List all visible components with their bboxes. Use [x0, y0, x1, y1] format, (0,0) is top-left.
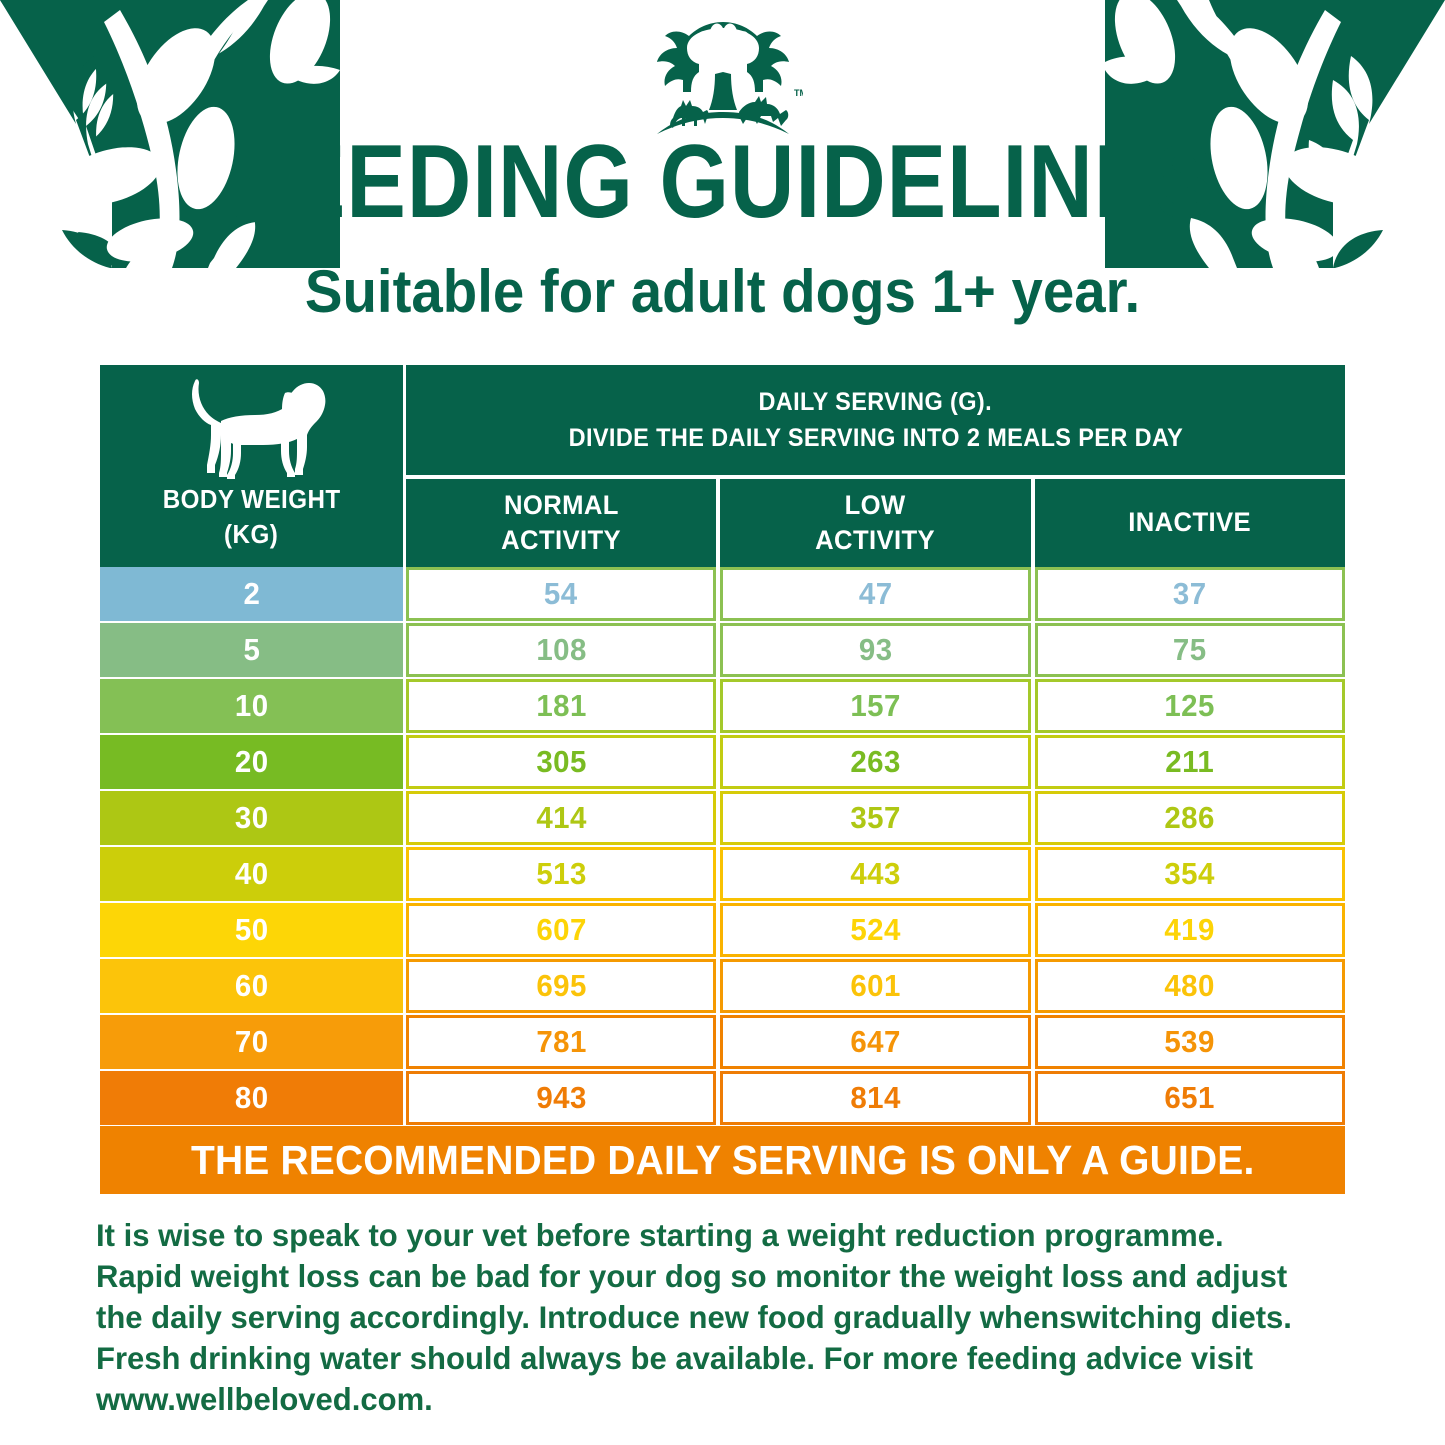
serving-cell-normal-activity: 54 — [406, 567, 716, 621]
serving-cell-low-activity: 814 — [720, 1071, 1030, 1125]
serving-value: 157 — [850, 688, 901, 724]
inactive-line1: INACTIVE — [1128, 505, 1251, 540]
serving-header-block: DAILY SERVING (G). DIVIDE THE DAILY SERV… — [406, 365, 1345, 567]
serving-value: 181 — [536, 688, 587, 724]
serving-cell-low-activity: 524 — [720, 903, 1030, 957]
serving-value: 695 — [536, 968, 587, 1004]
table-row: 70781647539 — [100, 1015, 1345, 1069]
serving-cell-normal-activity: 607 — [406, 903, 716, 957]
serving-cell-group: 181157125 — [406, 679, 1345, 733]
serving-cell-normal-activity: 414 — [406, 791, 716, 845]
serving-value: 651 — [1165, 1080, 1216, 1116]
table-row: 50607524419 — [100, 903, 1345, 957]
table-row: 60695601480 — [100, 959, 1345, 1013]
serving-value: 419 — [1165, 912, 1216, 948]
serving-cell-inactive: 75 — [1035, 623, 1345, 677]
body-weight-cell: 30 — [100, 791, 403, 845]
serving-cell-group: 305263211 — [406, 735, 1345, 789]
serving-cell-normal-activity: 181 — [406, 679, 716, 733]
serving-cell-group: 781647539 — [406, 1015, 1345, 1069]
body-weight-header-line1: BODY WEIGHT — [163, 483, 341, 516]
table-header: BODY WEIGHT (KG) DAILY SERVING (G). DIVI… — [100, 365, 1345, 567]
serving-cell-inactive: 419 — [1035, 903, 1345, 957]
footnote-line: Fresh drinking water should always be av… — [96, 1338, 1339, 1379]
table-row: 40513443354 — [100, 847, 1345, 901]
serving-cell-low-activity: 263 — [720, 735, 1030, 789]
serving-value: 211 — [1165, 744, 1214, 780]
serving-value: 781 — [536, 1024, 587, 1060]
guide-banner-text: THE RECOMMENDED DAILY SERVING IS ONLY A … — [191, 1137, 1254, 1184]
body-weight-value: 50 — [235, 912, 269, 948]
serving-value: 480 — [1165, 968, 1216, 1004]
low-activity-line1: LOW — [845, 488, 906, 523]
serving-cell-group: 414357286 — [406, 791, 1345, 845]
serving-value: 943 — [536, 1080, 587, 1116]
body-weight-cell: 60 — [100, 959, 403, 1013]
table-row: 2544737 — [100, 567, 1345, 621]
serving-value: 601 — [850, 968, 901, 1004]
page-title: FEEDING GUIDELINES — [101, 130, 1344, 234]
low-activity-line2: ACTIVITY — [816, 523, 936, 558]
serving-value: 37 — [1173, 576, 1207, 612]
serving-value: 414 — [536, 800, 587, 836]
table-row: 80943814651 — [100, 1071, 1345, 1125]
table-row: 10181157125 — [100, 679, 1345, 733]
column-header-low-activity: LOW ACTIVITY — [720, 479, 1030, 567]
serving-cell-group: 607524419 — [406, 903, 1345, 957]
serving-cell-inactive: 211 — [1035, 735, 1345, 789]
serving-value: 263 — [850, 744, 901, 780]
body-weight-header-cell: BODY WEIGHT (KG) — [100, 365, 403, 567]
serving-value: 108 — [536, 632, 587, 668]
serving-value: 357 — [850, 800, 901, 836]
body-weight-cell: 10 — [100, 679, 403, 733]
serving-cell-group: 1089375 — [406, 623, 1345, 677]
serving-value: 513 — [536, 856, 587, 892]
serving-cell-normal-activity: 108 — [406, 623, 716, 677]
daily-serving-header: DAILY SERVING (G). DIVIDE THE DAILY SERV… — [406, 365, 1345, 475]
daily-serving-header-line2: DIVIDE THE DAILY SERVING INTO 2 MEALS PE… — [568, 420, 1183, 456]
serving-value: 75 — [1173, 632, 1207, 668]
serving-cell-inactive: 539 — [1035, 1015, 1345, 1069]
page-subtitle: Suitable for adult dogs 1+ year. — [43, 262, 1401, 322]
body-weight-value: 70 — [235, 1024, 269, 1060]
footnote-text: It is wise to speak to your vet before s… — [96, 1215, 1358, 1420]
table-row: 30414357286 — [100, 791, 1345, 845]
serving-value: 125 — [1165, 688, 1216, 724]
serving-cell-inactive: 37 — [1035, 567, 1345, 621]
serving-cell-group: 695601480 — [406, 959, 1345, 1013]
body-weight-value: 80 — [235, 1080, 269, 1116]
serving-cell-inactive: 286 — [1035, 791, 1345, 845]
footnote-line: the daily serving accordingly. Introduce… — [96, 1297, 1339, 1338]
serving-value: 286 — [1165, 800, 1216, 836]
feeding-guidelines-page: TM FEEDING GUIDELINES Suitable for adult… — [0, 0, 1445, 1445]
serving-cell-inactive: 480 — [1035, 959, 1345, 1013]
serving-cell-normal-activity: 513 — [406, 847, 716, 901]
serving-cell-normal-activity: 781 — [406, 1015, 716, 1069]
serving-value: 305 — [536, 744, 587, 780]
footnote-line: www.wellbeloved.com. — [96, 1379, 1339, 1420]
body-weight-cell: 70 — [100, 1015, 403, 1069]
serving-value: 539 — [1165, 1024, 1216, 1060]
body-weight-value: 2 — [243, 576, 260, 612]
serving-cell-normal-activity: 943 — [406, 1071, 716, 1125]
serving-value: 607 — [536, 912, 587, 948]
serving-value: 354 — [1165, 856, 1216, 892]
serving-value: 814 — [850, 1080, 901, 1116]
serving-cell-inactive: 125 — [1035, 679, 1345, 733]
serving-cell-low-activity: 647 — [720, 1015, 1030, 1069]
serving-value: 647 — [850, 1024, 901, 1060]
body-weight-cell: 40 — [100, 847, 403, 901]
normal-activity-line2: ACTIVITY — [501, 523, 621, 558]
activity-header-row: NORMAL ACTIVITY LOW ACTIVITY INACTIVE — [406, 479, 1345, 567]
guide-banner: THE RECOMMENDED DAILY SERVING IS ONLY A … — [100, 1126, 1345, 1194]
trademark-label: TM — [794, 88, 803, 98]
serving-cell-low-activity: 443 — [720, 847, 1030, 901]
normal-activity-line1: NORMAL — [504, 488, 619, 523]
body-weight-cell: 20 — [100, 735, 403, 789]
serving-value: 54 — [544, 576, 578, 612]
table-body: 2544737510893751018115712520305263211304… — [100, 567, 1345, 1125]
serving-value: 443 — [850, 856, 901, 892]
daily-serving-header-line1: DAILY SERVING (G). — [759, 384, 993, 420]
serving-cell-low-activity: 157 — [720, 679, 1030, 733]
serving-value: 93 — [859, 632, 893, 668]
body-weight-value: 5 — [243, 632, 260, 668]
body-weight-cell: 2 — [100, 567, 403, 621]
body-weight-value: 60 — [235, 968, 269, 1004]
body-weight-value: 30 — [235, 800, 269, 836]
table-row: 51089375 — [100, 623, 1345, 677]
body-weight-cell: 50 — [100, 903, 403, 957]
serving-value: 47 — [859, 576, 893, 612]
feeding-table: BODY WEIGHT (KG) DAILY SERVING (G). DIVI… — [100, 365, 1345, 1125]
body-weight-value: 10 — [235, 688, 269, 724]
footnote-line: It is wise to speak to your vet before s… — [96, 1215, 1339, 1256]
serving-cell-low-activity: 93 — [720, 623, 1030, 677]
body-weight-cell: 5 — [100, 623, 403, 677]
footnote-line: Rapid weight loss can be bad for your do… — [96, 1256, 1339, 1297]
dog-silhouette-icon — [177, 373, 327, 481]
serving-cell-normal-activity: 695 — [406, 959, 716, 1013]
serving-cell-normal-activity: 305 — [406, 735, 716, 789]
serving-cell-group: 513443354 — [406, 847, 1345, 901]
column-header-inactive: INACTIVE — [1035, 479, 1345, 567]
serving-cell-low-activity: 47 — [720, 567, 1030, 621]
serving-value: 524 — [850, 912, 901, 948]
body-weight-header-line2: (KG) — [224, 518, 278, 551]
serving-cell-low-activity: 357 — [720, 791, 1030, 845]
table-row: 20305263211 — [100, 735, 1345, 789]
serving-cell-inactive: 354 — [1035, 847, 1345, 901]
body-weight-value: 20 — [235, 744, 269, 780]
body-weight-value: 40 — [235, 856, 269, 892]
serving-cell-group: 544737 — [406, 567, 1345, 621]
body-weight-cell: 80 — [100, 1071, 403, 1125]
column-header-normal-activity: NORMAL ACTIVITY — [406, 479, 716, 567]
serving-cell-inactive: 651 — [1035, 1071, 1345, 1125]
serving-cell-low-activity: 601 — [720, 959, 1030, 1013]
serving-cell-group: 943814651 — [406, 1071, 1345, 1125]
